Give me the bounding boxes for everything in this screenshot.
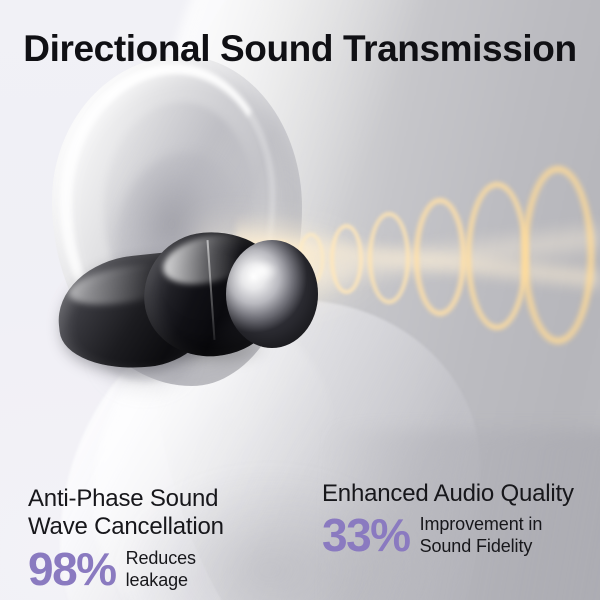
stat-block-anti-phase: Anti-Phase Sound Wave Cancellation 98% R… (28, 485, 298, 592)
stat-percent: 98% (28, 546, 116, 592)
stat-description: Reduces leakage (126, 546, 196, 592)
stat-percent: 33% (322, 512, 410, 558)
stat-block-audio-quality: Enhanced Audio Quality 33% Improvement i… (322, 480, 590, 558)
stat-figure-row: 98% Reduces leakage (28, 546, 298, 592)
earbud-product (58, 222, 308, 370)
stat-heading: Enhanced Audio Quality (322, 480, 590, 508)
earbud-speaker-dome (226, 240, 318, 348)
stat-figure-row: 33% Improvement in Sound Fidelity (322, 512, 590, 558)
stat-description: Improvement in Sound Fidelity (420, 512, 543, 558)
stat-heading: Anti-Phase Sound Wave Cancellation (28, 485, 298, 542)
infographic-canvas: Directional Sound Transmission Anti-Phas… (0, 0, 600, 600)
earbud-dome-specular (240, 256, 284, 286)
page-title: Directional Sound Transmission (0, 28, 600, 69)
